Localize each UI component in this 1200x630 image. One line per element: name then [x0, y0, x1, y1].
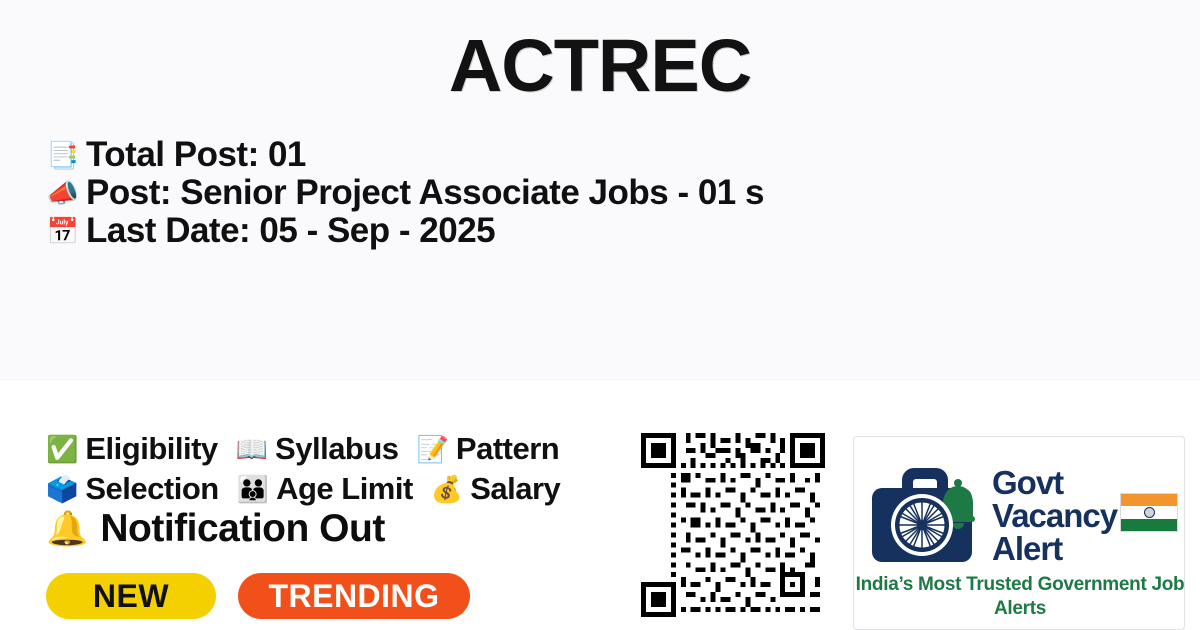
brand-logo-main: Govt Vacancy Alert: [854, 451, 1185, 579]
document-search-icon: 📑: [46, 138, 80, 172]
detail-total-post-text: Total Post: 01: [86, 136, 306, 174]
page-title: ACTREC: [0, 24, 1200, 108]
open-book-icon: 📖: [236, 434, 268, 464]
briefcase-icon: [866, 456, 988, 574]
status-badge-trending[interactable]: TRENDING: [238, 573, 470, 619]
link-selection[interactable]: 🗳️ Selection: [46, 471, 219, 507]
info-links-row-1: ✅ Eligibility 📖 Syllabus 📝 Pattern: [46, 429, 630, 469]
flag-band-white: [1121, 506, 1177, 518]
calendar-icon: 📅: [46, 214, 80, 248]
ashoka-chakra-icon: [1144, 507, 1155, 518]
briefcase-bell-logo-icon: [866, 456, 988, 574]
megaphone-icon: 📣: [46, 176, 80, 210]
link-eligibility-label: Eligibility: [85, 431, 217, 467]
flag-band-saffron: [1121, 494, 1177, 506]
detail-row-post-name: 📣 Post: Senior Project Associate Jobs - …: [46, 174, 1186, 212]
notification-out-label: Notification Out: [100, 506, 384, 552]
flag-band-green: [1121, 519, 1177, 531]
status-badge-new[interactable]: NEW: [46, 573, 216, 619]
link-age-limit[interactable]: 👪 Age Limit: [237, 471, 413, 507]
detail-row-total-post: 📑 Total Post: 01: [46, 136, 1186, 174]
detail-post-name-text: Post: Senior Project Associate Jobs - 01…: [86, 174, 764, 212]
link-salary[interactable]: 💰 Salary: [431, 471, 560, 507]
brand-line-vacancy: Vacancy: [992, 499, 1117, 532]
brand-logo-card: Govt Vacancy Alert India’s Most Trusted …: [853, 436, 1185, 630]
link-selection-label: Selection: [85, 471, 218, 507]
detail-last-date-text: Last Date: 05 - Sep - 2025: [86, 212, 495, 250]
link-age-limit-label: Age Limit: [276, 471, 413, 507]
poster-header-panel: ACTREC 📑 Total Post: 01 📣 Post: Senior P…: [0, 0, 1200, 380]
brand-wordmark: Govt Vacancy Alert: [992, 466, 1117, 565]
info-links-row-2: 🗳️ Selection 👪 Age Limit 💰 Salary: [46, 469, 630, 509]
qr-code[interactable]: [641, 433, 825, 617]
link-syllabus-label: Syllabus: [275, 431, 399, 467]
check-mark-icon: ✅: [46, 434, 78, 464]
selection-hand-icon: 🗳️: [46, 474, 78, 504]
job-detail-list: 📑 Total Post: 01 📣 Post: Senior Project …: [46, 136, 1186, 250]
link-eligibility[interactable]: ✅ Eligibility: [46, 431, 218, 467]
brand-line-alert: Alert: [992, 532, 1117, 565]
brand-line-govt: Govt: [992, 466, 1117, 499]
notification-out-row[interactable]: 🔔 Notification Out: [46, 506, 385, 552]
brand-tagline: India’s Most Trusted Government Job Aler…: [854, 573, 1185, 621]
link-pattern-label: Pattern: [456, 431, 559, 467]
info-links-block: ✅ Eligibility 📖 Syllabus 📝 Pattern 🗳️ Se…: [46, 429, 630, 509]
link-salary-label: Salary: [470, 471, 560, 507]
link-syllabus[interactable]: 📖 Syllabus: [236, 431, 399, 467]
family-icon: 👪: [237, 474, 269, 504]
india-flag-icon: [1120, 493, 1178, 532]
money-bag-icon: 💰: [431, 474, 463, 504]
exam-paper-icon: 📝: [417, 434, 449, 464]
detail-row-last-date: 📅 Last Date: 05 - Sep - 2025: [46, 212, 1186, 250]
link-pattern[interactable]: 📝 Pattern: [417, 431, 560, 467]
qr-code-image: [641, 433, 825, 617]
badge-row: NEW TRENDING: [46, 573, 470, 619]
job-alert-poster: ACTREC 📑 Total Post: 01 📣 Post: Senior P…: [0, 0, 1200, 630]
bell-icon: 🔔: [46, 509, 88, 549]
